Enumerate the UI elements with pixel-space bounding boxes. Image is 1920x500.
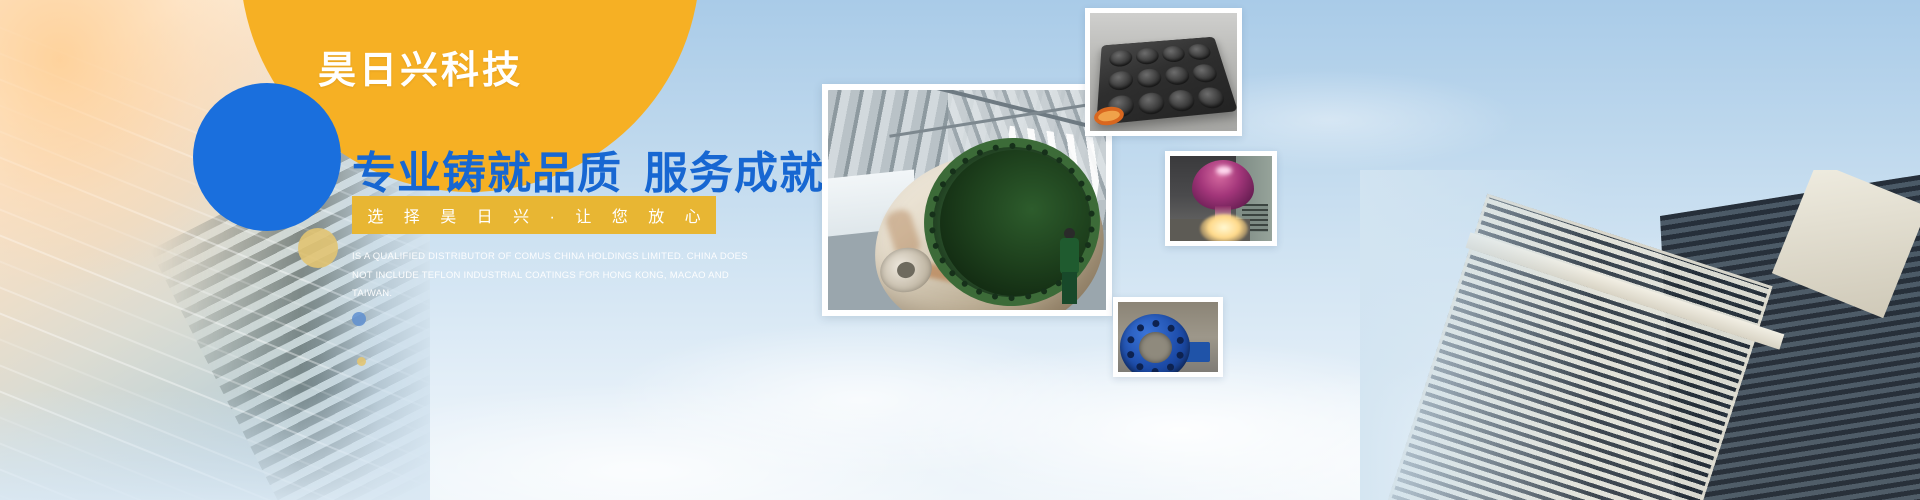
skyscraper-fade-overlay xyxy=(1360,170,1920,500)
flange-bolt xyxy=(977,149,984,156)
flange-bolt xyxy=(1025,293,1032,300)
flange-bolt-hole xyxy=(1167,324,1174,331)
blue-dot-small xyxy=(352,312,366,326)
heat-lamp-photo-inner xyxy=(1170,156,1272,241)
flange-bolt-hole xyxy=(1127,351,1134,358)
lamp-glow xyxy=(1200,214,1248,241)
pan-cavity xyxy=(1167,89,1196,113)
pan-cavity xyxy=(1161,45,1186,63)
flange-bolt xyxy=(932,243,939,250)
pan-cavity xyxy=(1196,86,1227,109)
slogan-text: 选 择 昊 日 兴 · 让 您 放 心 xyxy=(359,203,708,227)
blue-circle-shape xyxy=(193,83,341,231)
flange-bolt xyxy=(1078,180,1085,187)
flange-bolt xyxy=(1088,210,1095,217)
main-product-photo xyxy=(822,84,1112,316)
pan-cavity xyxy=(1164,66,1191,86)
factory-worker xyxy=(1058,228,1082,304)
heat-lamp-photo xyxy=(1165,151,1277,246)
flange-bolt-hole xyxy=(1151,368,1158,373)
pan-cavity xyxy=(1138,92,1166,116)
flange-bolt xyxy=(940,181,947,188)
flange-bolt xyxy=(929,227,936,234)
pan-cavity xyxy=(1136,47,1160,65)
flange-bolt-hole xyxy=(1152,320,1159,327)
bakeware-tray-photo xyxy=(1085,8,1242,136)
flange-bolt-hole xyxy=(1136,363,1143,370)
sand-dot-small xyxy=(357,357,366,366)
skyscraper-photo xyxy=(1360,170,1920,500)
legal-disclaimer-text: IS A QUALIFIED DISTRIBUTOR OF COMUS CHIN… xyxy=(352,248,752,304)
flange-bolt xyxy=(1056,157,1063,164)
flange-bolt-hole xyxy=(1176,336,1183,343)
flange-bolt xyxy=(933,196,940,203)
pan-cavity xyxy=(1137,68,1163,89)
pan-cavity xyxy=(1109,49,1133,67)
flange-bolt-hole xyxy=(1137,324,1144,331)
flange-bolt-holes xyxy=(1120,314,1190,372)
pan-cavity xyxy=(1191,63,1219,83)
flange-bolt xyxy=(929,211,936,218)
flange-bolt xyxy=(1041,288,1048,295)
flange-bolt xyxy=(1085,242,1092,249)
blue-flange-photo xyxy=(1113,297,1223,377)
flange-bolt xyxy=(1026,144,1033,151)
headline-part-one: 专业铸就品质 xyxy=(352,149,622,198)
flange-bolt xyxy=(1068,167,1075,174)
flange-bolt xyxy=(950,168,957,175)
flange-bolt xyxy=(949,270,956,277)
hero-banner: 昊日兴科技 专业铸就品质服务成就辉煌 选 择 昊 日 兴 · 让 您 放 心 I… xyxy=(0,0,1920,500)
facade-bottom-fade xyxy=(0,390,430,500)
flange-bolt xyxy=(1009,143,1016,150)
flange-bolt xyxy=(1042,149,1049,156)
flange-bolt xyxy=(1085,195,1092,202)
flange-bolt xyxy=(1008,295,1015,302)
flange-bolt xyxy=(961,280,968,287)
lamp-hotspot xyxy=(1216,166,1232,175)
flange-bolt xyxy=(992,144,999,151)
flange-bolt xyxy=(962,157,969,164)
slogan-bar: 选 择 昊 日 兴 · 让 您 放 心 xyxy=(352,196,716,234)
flange-photo-inner xyxy=(1118,302,1218,372)
company-name: 昊日兴科技 xyxy=(318,52,523,90)
flange-bolt-hole xyxy=(1127,336,1134,343)
worker-legs xyxy=(1062,272,1077,304)
flange-bolt xyxy=(976,288,983,295)
pan-cavity xyxy=(1108,70,1133,91)
bakeware-photo-inner xyxy=(1090,13,1237,131)
flange-bolt xyxy=(939,257,946,264)
flange-bolt-hole xyxy=(1167,363,1174,370)
flange-bolt xyxy=(1088,226,1095,233)
worker-torso xyxy=(1060,238,1079,274)
main-photo-inner xyxy=(828,90,1106,310)
pan-cavity xyxy=(1187,43,1213,60)
sand-dot-large xyxy=(298,228,338,268)
flange-bolt-hole xyxy=(1176,351,1183,358)
flange-bolt xyxy=(992,293,999,300)
